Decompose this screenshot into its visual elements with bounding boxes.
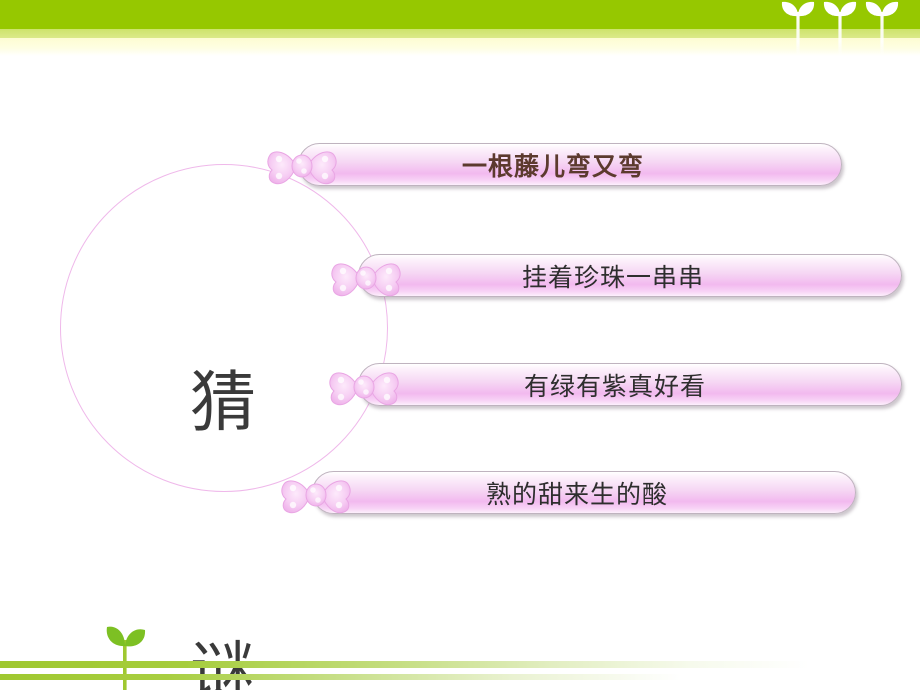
riddle-banner-2[interactable]: 挂着珍珠一串串	[358, 254, 902, 297]
riddle-text-2: 挂着珍珠一串串	[359, 255, 901, 296]
riddle-banner-4[interactable]: 熟的甜来生的酸	[312, 471, 856, 514]
riddle-banner-3[interactable]: 有绿有紫真好看	[358, 363, 902, 406]
header-sprout-group	[776, 0, 906, 56]
title-char-1: 猜	[163, 358, 283, 448]
riddle-text-1: 一根藤儿弯又弯	[299, 144, 841, 185]
bow-icon	[280, 470, 352, 520]
riddle-text-3: 有绿有紫真好看	[359, 364, 901, 405]
sprout-icon	[776, 0, 820, 56]
footer-line-bottom	[0, 674, 920, 680]
header-band	[0, 0, 920, 56]
page-title: 猜 谜 语	[163, 178, 283, 690]
sprout-icon	[818, 0, 862, 56]
bow-icon	[266, 141, 338, 191]
footer-line-top	[0, 661, 920, 668]
bow-icon	[328, 362, 400, 412]
riddle-text-4: 熟的甜来生的酸	[313, 472, 855, 513]
bow-icon	[330, 253, 402, 303]
slide-canvas: 猜 谜 语 一根藤儿弯又弯 挂着珍珠一串串 有绿有紫真好看 熟的甜来生的酸	[0, 0, 920, 690]
riddle-banner-1[interactable]: 一根藤儿弯又弯	[298, 143, 842, 186]
sprout-icon	[860, 0, 904, 56]
title-char-2: 谜	[163, 628, 283, 690]
